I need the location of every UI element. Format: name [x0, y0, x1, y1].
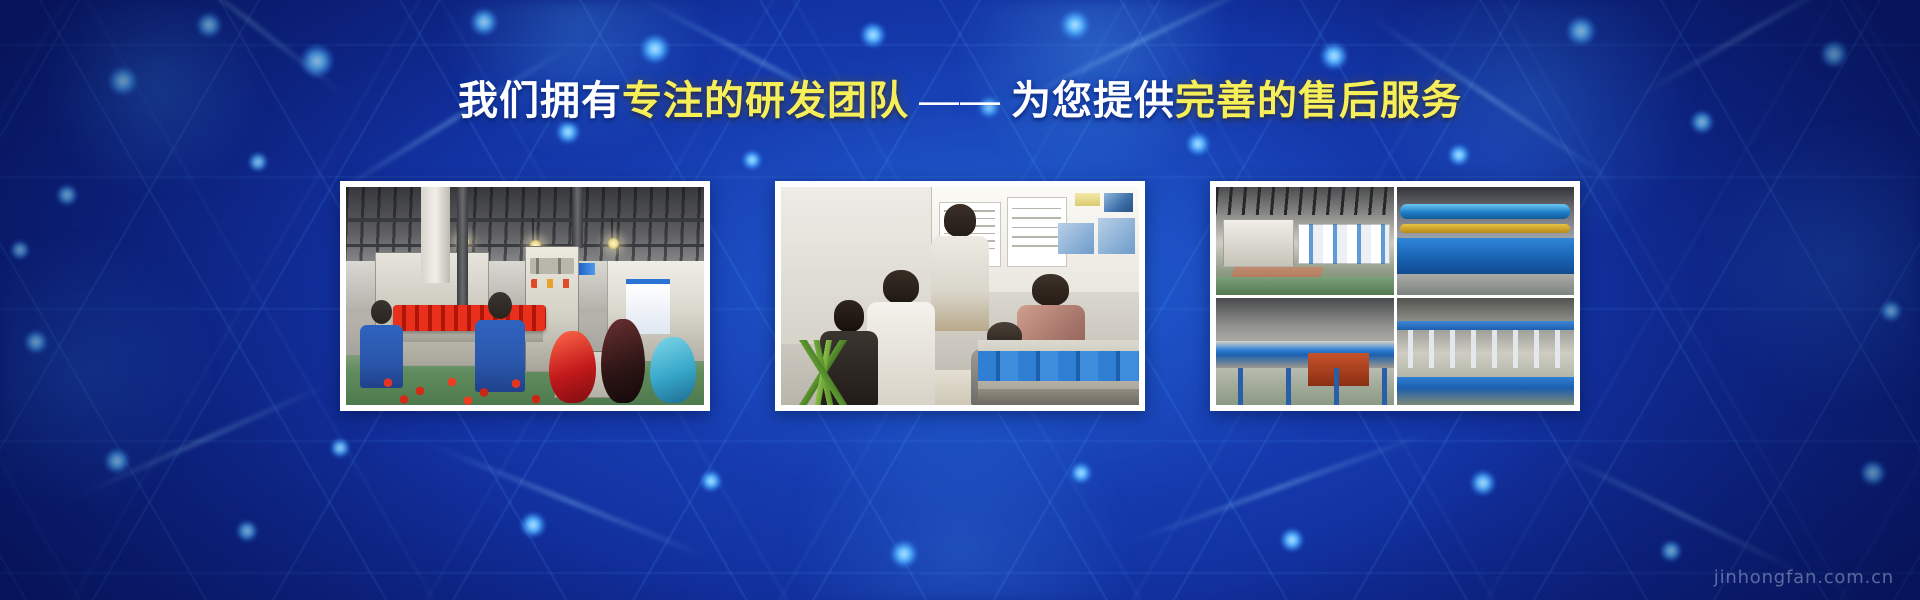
equipment-blue-units: [978, 351, 1139, 381]
hanging-hooks: [1400, 330, 1570, 369]
foreground-plant: [785, 340, 864, 405]
control-knobs: [530, 258, 573, 274]
yellow-pipe: [1400, 224, 1570, 234]
photo-production-line: [346, 187, 704, 405]
green-floor: [1216, 277, 1394, 294]
workshop-floor: [1397, 274, 1575, 294]
coating-equipment: [1223, 219, 1294, 266]
site-watermark: jinhongfan.com.cn: [1714, 567, 1894, 588]
person-head: [883, 270, 918, 304]
vase-red: [549, 331, 596, 403]
lamp-stem: [532, 218, 534, 242]
indicator-lights: [531, 279, 571, 288]
poster-diagram: [1098, 218, 1135, 254]
equipment-inset-photo: [978, 340, 1139, 405]
headline-segment-3: 为您提供: [1011, 79, 1175, 123]
support-column: [572, 187, 583, 248]
equipment-row: [1298, 224, 1390, 265]
product-vases-group: [543, 305, 701, 405]
photo-technical-meeting: [781, 187, 1139, 405]
headline-segment-4: 完善的售后服务: [1175, 79, 1462, 123]
lamp-stem: [611, 218, 613, 240]
blue-machine-base: [1397, 377, 1575, 405]
poster-diagram: [1058, 223, 1093, 254]
poster-photo: [1104, 193, 1133, 212]
person-shirt: [931, 236, 988, 331]
equipment-base: [978, 389, 1139, 405]
headline-segment-1: 我们拥有: [458, 79, 622, 123]
worker-head: [371, 300, 392, 324]
promo-banner: 我们拥有专注的研发团队——为您提供完善的售后服务: [0, 0, 1920, 600]
poster-certificate: [1075, 193, 1100, 206]
banner-headline: 我们拥有专注的研发团队——为您提供完善的售后服务: [0, 78, 1920, 124]
photo-card-technical-meeting[interactable]: [775, 181, 1145, 411]
photo-gallery: [0, 181, 1920, 411]
blue-tunnel-body: [1397, 238, 1575, 275]
collage-cell-conveyor-line: [1216, 298, 1394, 406]
headline-segment-2: 专注的研发团队: [622, 79, 909, 123]
roof-beam: [346, 218, 704, 222]
collage-cell-hanging-conveyor: [1397, 298, 1575, 406]
exhaust-duct: [421, 187, 450, 283]
person-head: [944, 204, 976, 237]
collage-cell-coating-workshop: [1216, 187, 1394, 295]
person-head: [1032, 274, 1069, 306]
photo-card-equipment-collage[interactable]: [1210, 181, 1580, 411]
person-standing-presenter: [931, 204, 988, 330]
workshop-roof: [1216, 187, 1394, 215]
overhead-rail: [1397, 321, 1575, 330]
blue-duct: [1400, 204, 1570, 219]
vase-dark: [601, 319, 645, 403]
person-head: [834, 300, 864, 331]
worker-head: [488, 292, 512, 319]
conveyor-support-legs: [1216, 368, 1394, 405]
panel-label-sticker: [579, 263, 596, 275]
collage-cell-drying-tunnel: [1397, 187, 1575, 295]
vase-blue: [650, 337, 696, 403]
photo-card-production-line[interactable]: [340, 181, 710, 411]
headline-separator-dash: ——: [909, 79, 1011, 123]
photo-equipment-collage: [1216, 187, 1574, 405]
red-parts-pile: [364, 368, 564, 405]
